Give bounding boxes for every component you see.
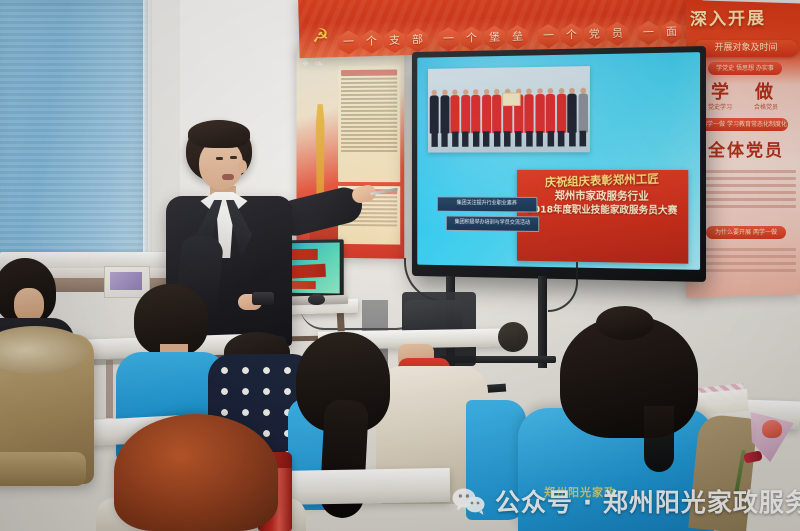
fur-coat-hem bbox=[0, 452, 86, 486]
poster-right-ribbon: 开展对象及时间 bbox=[694, 40, 798, 57]
blind-slats bbox=[0, 0, 148, 258]
banner-char: 党 bbox=[584, 22, 606, 47]
presentation-tv[interactable]: 庆祝组庆表彰郑州工匠 郑州市家政服务行业 2018年度职业技能家政服务员大赛 集… bbox=[412, 46, 706, 282]
slide-bullet-2: 集团积极举办培训与学员交流活动 bbox=[446, 216, 539, 232]
desk-leg bbox=[106, 360, 113, 418]
presenter-fringe bbox=[188, 120, 250, 148]
banner-char: 支 bbox=[384, 29, 406, 54]
poster-right-body-2 bbox=[694, 244, 798, 290]
poster-text-card bbox=[338, 65, 400, 182]
banner-char: 部 bbox=[407, 28, 429, 53]
presenter-ear bbox=[238, 160, 247, 173]
banner-char: 个 bbox=[561, 23, 583, 48]
poster-right-tag3: 为什么要开展 两学一做 bbox=[706, 226, 786, 239]
window-blind bbox=[0, 0, 148, 258]
audience-face bbox=[14, 288, 44, 322]
wechat-icon bbox=[452, 486, 486, 516]
tv-stand-post bbox=[538, 276, 547, 368]
banner-char: 一 bbox=[438, 27, 460, 52]
computer-mouse[interactable] bbox=[308, 294, 325, 305]
banner-char: 个 bbox=[361, 29, 383, 54]
poster-right-tag1: 学党史 悟思想 办实事 bbox=[708, 62, 782, 75]
dove-icon: ✦ ❧ bbox=[300, 56, 340, 102]
banner-char: 个 bbox=[461, 26, 483, 51]
hammer-sickle-icon: ☭ bbox=[312, 26, 335, 49]
photo-scene: ✦ ❧ ☭ 一 个 支 部 一 个 堡 垒 一 个 党 员 bbox=[0, 0, 800, 531]
poster-right-big1: 学 bbox=[700, 78, 740, 102]
presenter-remote[interactable] bbox=[252, 292, 274, 305]
poster-right-big3: 全体党员 bbox=[694, 136, 798, 162]
audience-head-front bbox=[114, 414, 278, 531]
poster-right-title: 深入开展 bbox=[690, 3, 800, 35]
certificate bbox=[502, 92, 520, 106]
stage-banner-line3: 2018年度职业技能家政服务员大赛 bbox=[519, 201, 687, 216]
presenter-eye bbox=[230, 156, 237, 159]
slide-photo-group bbox=[428, 66, 590, 153]
banner-char: 堡 bbox=[484, 25, 506, 50]
slide-bullet-1: 集团关注提升行业职业素养 bbox=[437, 196, 537, 212]
banner-char: 一 bbox=[338, 30, 360, 55]
watermark-text: 公众号 · 郑州阳光家政服务公司 bbox=[495, 483, 800, 519]
poster-right-sub2: 合格党员 bbox=[744, 102, 788, 112]
tv-screen: 庆祝组庆表彰郑州工匠 郑州市家政服务行业 2018年度职业技能家政服务员大赛 集… bbox=[417, 52, 700, 270]
poster-right-body bbox=[694, 166, 798, 218]
banner-char: 一 bbox=[538, 24, 560, 49]
audience-head bbox=[498, 322, 528, 352]
banner-char: 一 bbox=[638, 21, 660, 46]
audience-hair-bun bbox=[596, 306, 654, 340]
blind-edge bbox=[143, 0, 152, 262]
banner-char: 面 bbox=[661, 20, 683, 45]
banner-char: 员 bbox=[607, 22, 629, 47]
presenter-eye bbox=[216, 157, 223, 160]
banner-char: 垒 bbox=[507, 25, 529, 50]
poster-right-tag2: 两学一做 学习教育常态化制度化 bbox=[700, 118, 788, 131]
rose-icon bbox=[762, 420, 782, 438]
poster-right-big2: 做 bbox=[744, 78, 784, 102]
wall-picture-image bbox=[110, 272, 142, 290]
presenter-mouth bbox=[222, 174, 234, 180]
watermark: 公众号 · 郑州阳光家政服务公司 bbox=[452, 481, 800, 521]
audience-hair-strand bbox=[644, 406, 674, 472]
stage-banner-line2: 郑州市家政服务行业 bbox=[521, 187, 685, 202]
